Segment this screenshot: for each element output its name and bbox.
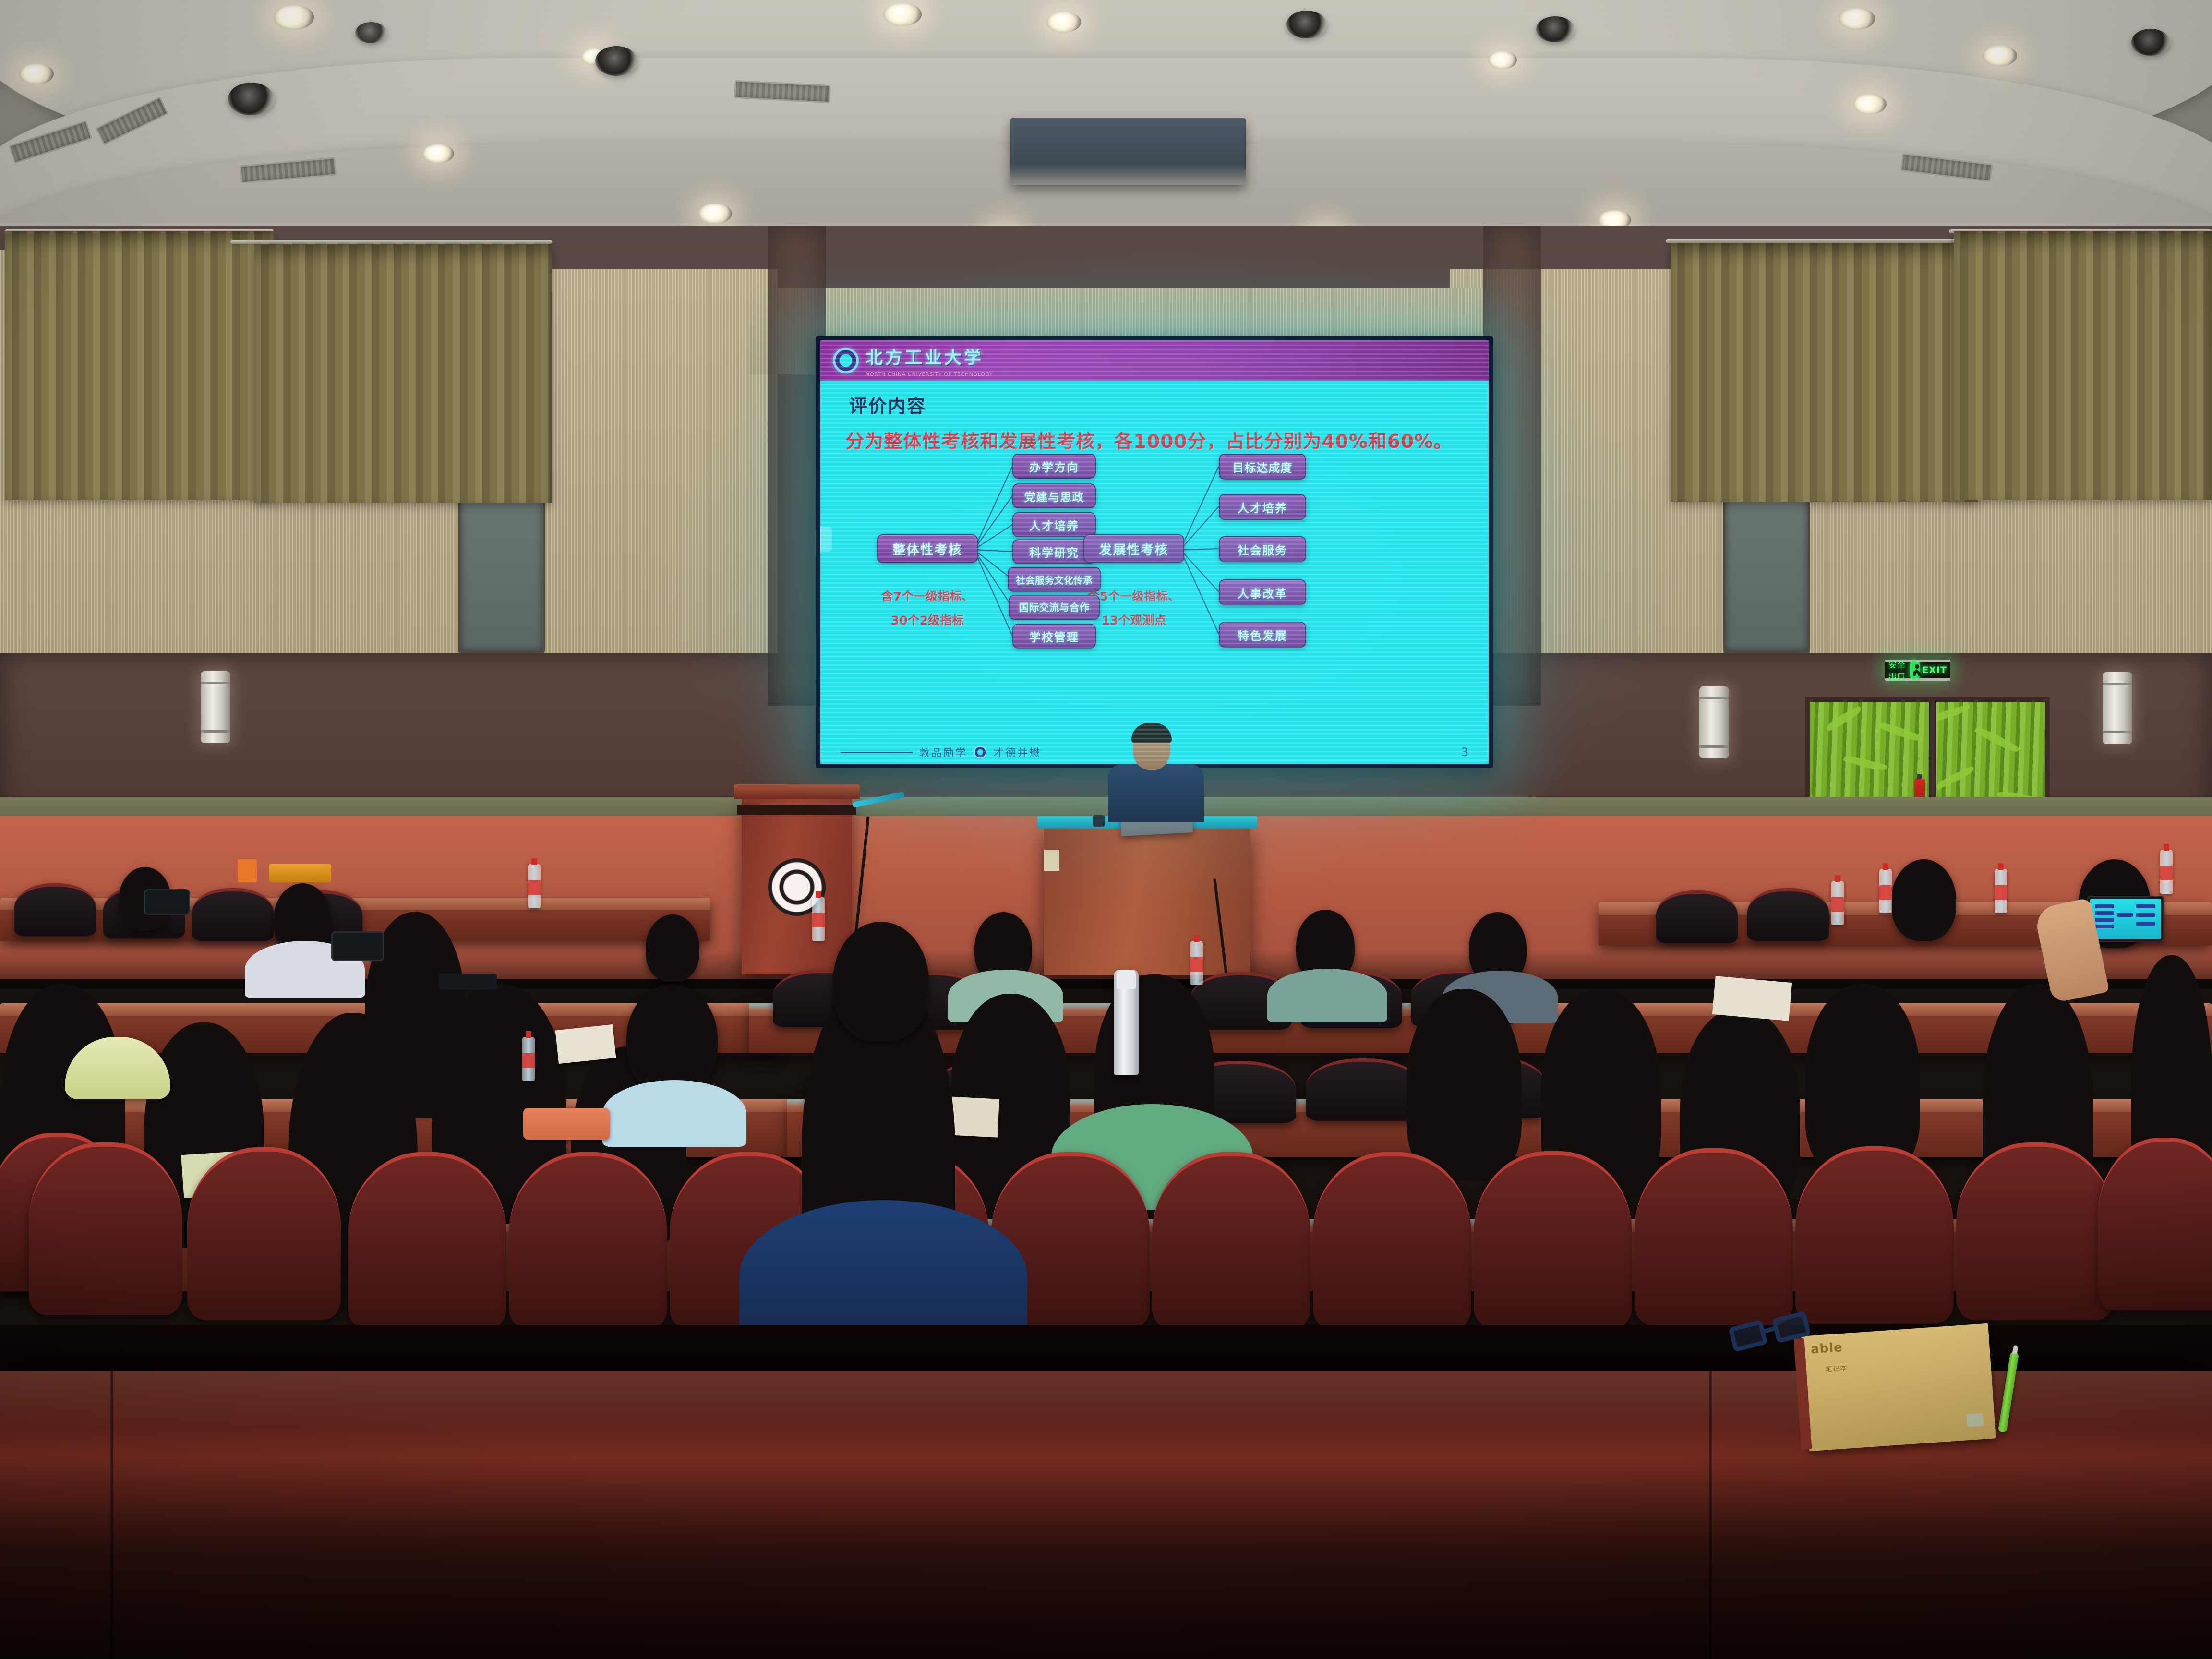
slide-canvas: 北方工业大学 NORTH CHINA UNIVERSITY OF TECHNOL… xyxy=(820,340,1489,764)
desk-seam xyxy=(110,1371,113,1659)
ceiling-downlight-icon xyxy=(698,204,732,224)
footer-rule xyxy=(841,752,913,753)
seat[interactable] xyxy=(187,1147,341,1320)
seat[interactable] xyxy=(1656,890,1738,943)
ceiling-downlight-icon xyxy=(274,5,314,30)
ceiling-downlight-icon xyxy=(883,3,922,26)
water-bottle-icon xyxy=(522,1037,535,1081)
node-talent-cultivation-right: 人才培养 xyxy=(1219,494,1306,520)
wall-sconce-icon xyxy=(1699,686,1729,758)
node-overall-assessment: 整体性考核 xyxy=(877,534,978,563)
notebook-seal xyxy=(1966,1413,1984,1427)
footer-motto-left: 敦品励学 xyxy=(919,745,967,760)
exit-sign-label-cn: 安全出口 xyxy=(1888,658,1908,682)
water-bottle-icon xyxy=(812,897,825,941)
desk-seam xyxy=(1709,1371,1712,1659)
seat[interactable] xyxy=(1747,888,1829,941)
seat[interactable] xyxy=(348,1152,506,1330)
smartphone-icon[interactable] xyxy=(2087,896,2164,942)
presenter-torso xyxy=(1108,764,1204,822)
node-developmental-assessment: 发展性考核 xyxy=(1083,534,1184,563)
seat[interactable] xyxy=(29,1142,182,1315)
notebook-title: able xyxy=(1810,1340,1843,1357)
node-goal-achievement: 目标达成度 xyxy=(1219,454,1306,480)
slide-body: 评价内容 分为整体性考核和发展性考核，各1000分，占比分别为40%和60%。 xyxy=(820,381,1489,764)
seat[interactable] xyxy=(1956,1142,2115,1320)
window-curtain[interactable] xyxy=(254,244,552,503)
node-social-service: 社会服务 xyxy=(1219,536,1306,562)
node-school-direction: 办学方向 xyxy=(1012,454,1096,479)
node-personnel-reform: 人事改革 xyxy=(1219,579,1306,605)
ceiling-downlight-icon xyxy=(19,63,54,84)
seat[interactable] xyxy=(1152,1152,1310,1330)
curtain-rod xyxy=(230,240,552,244)
smartphone-icon[interactable] xyxy=(144,889,190,915)
ceiling-downlight-icon xyxy=(1839,8,1875,30)
ceiling-speaker-icon xyxy=(1286,11,1327,38)
water-bottle-icon xyxy=(1879,869,1892,913)
lectern xyxy=(1044,827,1250,975)
smartphone-icon[interactable] xyxy=(439,974,497,990)
audience-head xyxy=(646,914,699,982)
exit-sign-label-en: EXIT xyxy=(1922,665,1947,675)
led-presentation-screen: 北方工业大学 NORTH CHINA UNIVERSITY OF TECHNOL… xyxy=(816,336,1493,768)
thermos-bottle-icon xyxy=(1114,970,1139,1075)
audience-shoulders xyxy=(602,1080,746,1147)
podium-lip xyxy=(737,805,856,815)
audience-head xyxy=(833,922,929,1042)
phone-orange-case[interactable] xyxy=(523,1108,610,1140)
notepad xyxy=(1712,976,1792,1021)
wall-note-card xyxy=(1044,850,1059,871)
ceiling-downlight-icon xyxy=(1488,51,1517,69)
seat[interactable] xyxy=(1474,1151,1632,1329)
ceiling-speaker-icon xyxy=(2131,29,2170,56)
seat[interactable] xyxy=(509,1152,667,1330)
university-name-en: NORTH CHINA UNIVERSITY OF TECHNOLOGY xyxy=(866,371,993,377)
ceiling-speaker-icon xyxy=(355,22,387,43)
notebook-subtitle: 笔记本 xyxy=(1825,1363,1847,1374)
exit-sign: 安全出口 EXIT xyxy=(1885,660,1950,681)
node-school-management: 学校管理 xyxy=(1012,624,1096,649)
audience-head xyxy=(1891,859,1956,941)
ceiling-downlight-icon xyxy=(1983,45,2017,66)
water-bottle-icon xyxy=(1831,881,1844,925)
node-social-service-culture: 社会服务文化传承 xyxy=(1008,567,1101,592)
ceiling-downlight-icon xyxy=(1853,94,1887,114)
desk-object xyxy=(238,859,257,882)
audience-head xyxy=(626,984,718,1094)
seat[interactable] xyxy=(1313,1152,1471,1330)
wall-sconce-icon xyxy=(201,671,230,743)
node-international-exchange: 国际交流与合作 xyxy=(1009,595,1100,620)
seat[interactable] xyxy=(1795,1146,1954,1324)
seat[interactable] xyxy=(192,888,274,941)
seat[interactable] xyxy=(14,883,96,936)
podium xyxy=(742,797,852,974)
notebook[interactable]: able 笔记本 xyxy=(1801,1323,1996,1452)
desk-object xyxy=(269,864,331,882)
seat[interactable] xyxy=(1635,1148,1793,1326)
water-bottle-icon xyxy=(2160,850,2173,894)
running-person-exit-icon xyxy=(1910,662,1920,678)
ceiling-speaker-icon xyxy=(595,46,637,76)
node-distinctive-development: 特色发展 xyxy=(1219,622,1306,648)
ceiling-speaker-icon xyxy=(228,83,274,115)
window-curtain[interactable] xyxy=(5,231,274,500)
wall-sconce-icon xyxy=(2103,672,2132,744)
seat[interactable] xyxy=(1306,1058,1421,1121)
footer-motto-right: 才德并懋 xyxy=(993,745,1041,760)
curtain-rod xyxy=(1666,239,1983,243)
audience-shoulders xyxy=(1267,969,1387,1022)
ceiling-speaker-icon xyxy=(1536,16,1575,42)
node-talent-cultivation-left: 人才培养 xyxy=(1012,512,1096,537)
university-seal-icon xyxy=(974,746,986,758)
audience-head xyxy=(1407,989,1522,1181)
water-bottle-icon xyxy=(1995,869,2007,913)
slide-page-number: 3 xyxy=(1461,745,1468,759)
lecture-hall-photo: 安全出口 EXIT 北方工业大学 xyxy=(0,0,2212,1659)
window-curtain[interactable] xyxy=(1954,231,2212,500)
university-name-cn: 北方工业大学 xyxy=(866,344,993,369)
ceiling-downlight-icon xyxy=(1046,12,1081,33)
phone-screen-preview xyxy=(2090,899,2161,939)
lectern-microphone xyxy=(1093,815,1105,827)
ceiling-downlight-icon xyxy=(422,144,454,163)
smartphone-icon[interactable] xyxy=(331,931,384,961)
university-crest-icon xyxy=(833,348,859,373)
ceiling-projector-housing xyxy=(1010,118,1246,185)
water-bottle-icon xyxy=(1190,941,1203,985)
notepad xyxy=(555,1024,616,1064)
water-bottle-icon xyxy=(528,864,541,908)
slide-header-bar: 北方工业大学 NORTH CHINA UNIVERSITY OF TECHNOL… xyxy=(820,340,1489,381)
seat[interactable] xyxy=(2098,1138,2212,1310)
node-party-building: 党建与思政 xyxy=(1012,483,1096,508)
window-curtain[interactable] xyxy=(1671,243,1978,502)
podium-top-surface xyxy=(734,784,860,799)
